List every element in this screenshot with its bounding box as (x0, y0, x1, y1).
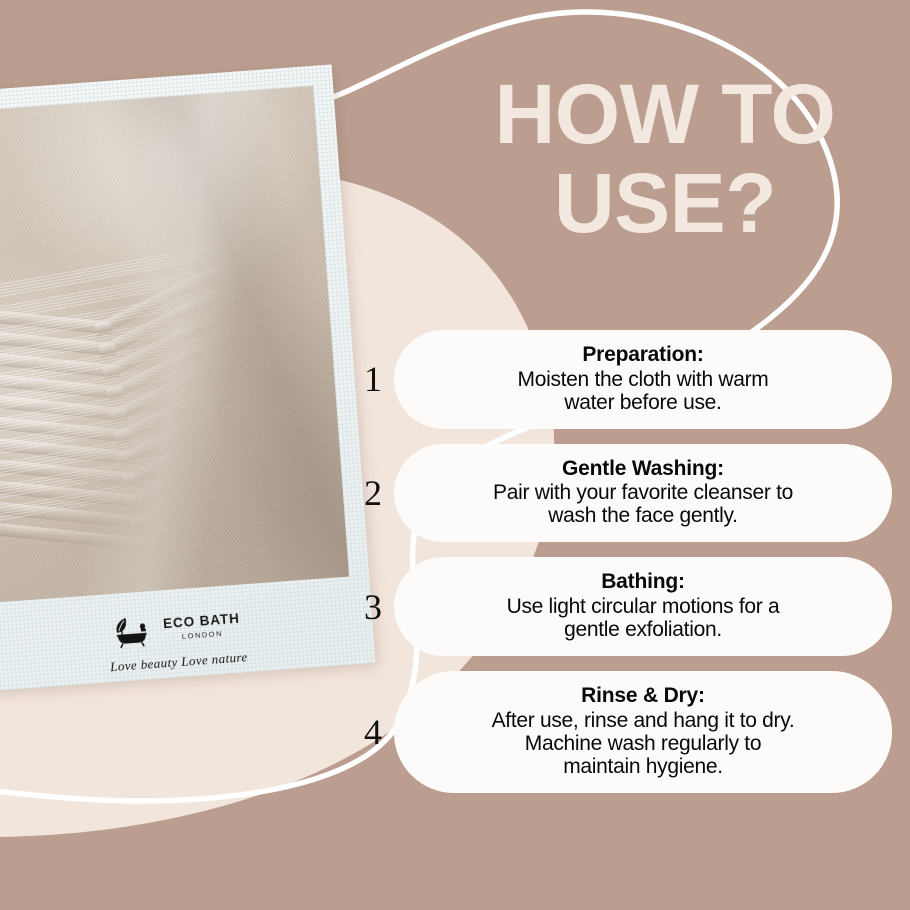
list-item: 2 Gentle Washing: Pair with your favorit… (352, 444, 892, 543)
list-item: 3 Bathing: Use light circular motions fo… (352, 557, 892, 656)
how-to-use-poster: ECO BATH LONDON Love beauty Love nature … (0, 0, 910, 910)
towel-photograph (0, 86, 349, 602)
step-number: 4 (352, 714, 394, 750)
step-card: Bathing: Use light circular motions for … (394, 557, 892, 656)
step-description: Pair with your favorite cleanser to wash… (428, 481, 858, 527)
step-number: 1 (352, 361, 394, 397)
step-title: Bathing: (428, 570, 858, 594)
step-card: Preparation: Moisten the cloth with warm… (394, 330, 892, 429)
brand-name: ECO BATH (163, 612, 240, 631)
step-number: 2 (352, 475, 394, 511)
step-title: Rinse & Dry: (428, 684, 858, 708)
step-card: Rinse & Dry: After use, rinse and hang i… (394, 671, 892, 793)
step-number: 3 (352, 589, 394, 625)
towel-fold-shading (0, 86, 349, 602)
page-title-line-2: USE? (430, 163, 900, 244)
step-description: Moisten the cloth with warm water before… (428, 368, 858, 414)
step-title: Preparation: (428, 343, 858, 367)
step-description: Use light circular motions for a gentle … (428, 595, 858, 641)
polaroid-frame: ECO BATH LONDON Love beauty Love nature (0, 64, 375, 691)
brand-subtitle: LONDON (182, 629, 224, 639)
product-photo-polaroid: ECO BATH LONDON Love beauty Love nature (0, 64, 375, 691)
step-card: Gentle Washing: Pair with your favorite … (394, 444, 892, 543)
bathtub-leaf-icon (111, 613, 157, 650)
page-title-line-1: HOW TO (430, 74, 900, 155)
brand-tagline: Love beauty Love nature (110, 649, 248, 675)
steps-list: 1 Preparation: Moisten the cloth with wa… (352, 330, 892, 808)
step-title: Gentle Washing: (428, 457, 858, 481)
list-item: 1 Preparation: Moisten the cloth with wa… (352, 330, 892, 429)
step-description: After use, rinse and hang it to dry. Mac… (428, 709, 858, 778)
page-title: HOW TO USE? (430, 74, 900, 245)
list-item: 4 Rinse & Dry: After use, rinse and hang… (352, 671, 892, 793)
